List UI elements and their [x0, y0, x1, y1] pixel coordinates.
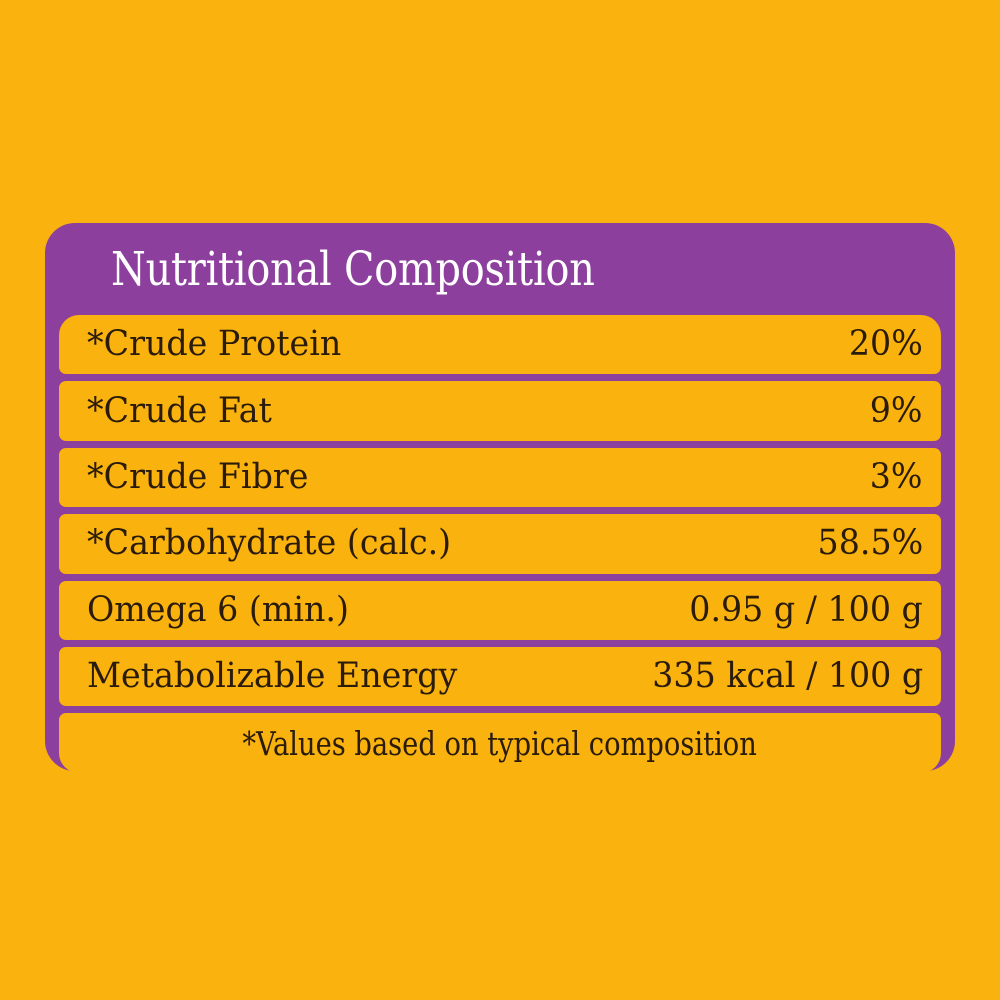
nutrient-value: 3% [870, 460, 923, 495]
table-row: *Carbohydrate (calc.) 58.5% [59, 514, 941, 573]
nutrient-label: *Carbohydrate (calc.) [87, 526, 451, 561]
nutrient-value: 335 kcal / 100 g [652, 659, 923, 694]
nutrient-label: Metabolizable Energy [87, 659, 457, 694]
nutrient-label: *Crude Fibre [87, 460, 308, 495]
nutrient-label: *Crude Protein [87, 327, 341, 362]
table-row: Omega 6 (min.) 0.95 g / 100 g [59, 581, 941, 640]
card-header: Nutritional Composition [45, 223, 955, 315]
nutrition-table: *Crude Protein 20% *Crude Fat 9% *Crude … [59, 315, 941, 757]
nutrient-value: 9% [870, 394, 923, 429]
table-row: *Crude Fibre 3% [59, 448, 941, 507]
table-row: *Crude Fat 9% [59, 381, 941, 440]
table-footnote-row: *Values based on typical composition [59, 713, 941, 772]
nutrition-label-canvas: Nutritional Composition *Crude Protein 2… [0, 0, 1000, 1000]
nutrient-label: *Crude Fat [87, 394, 272, 429]
table-row: *Crude Protein 20% [59, 315, 941, 374]
nutritional-composition-card: Nutritional Composition *Crude Protein 2… [45, 223, 955, 771]
nutrient-value: 20% [849, 327, 923, 362]
table-row: Metabolizable Energy 335 kcal / 100 g [59, 647, 941, 706]
nutrient-label: Omega 6 (min.) [87, 593, 349, 628]
nutrient-value: 0.95 g / 100 g [689, 593, 923, 628]
footnote-text: *Values based on typical composition [243, 727, 757, 760]
page-title: Nutritional Composition [111, 246, 595, 293]
nutrient-value: 58.5% [817, 526, 923, 561]
